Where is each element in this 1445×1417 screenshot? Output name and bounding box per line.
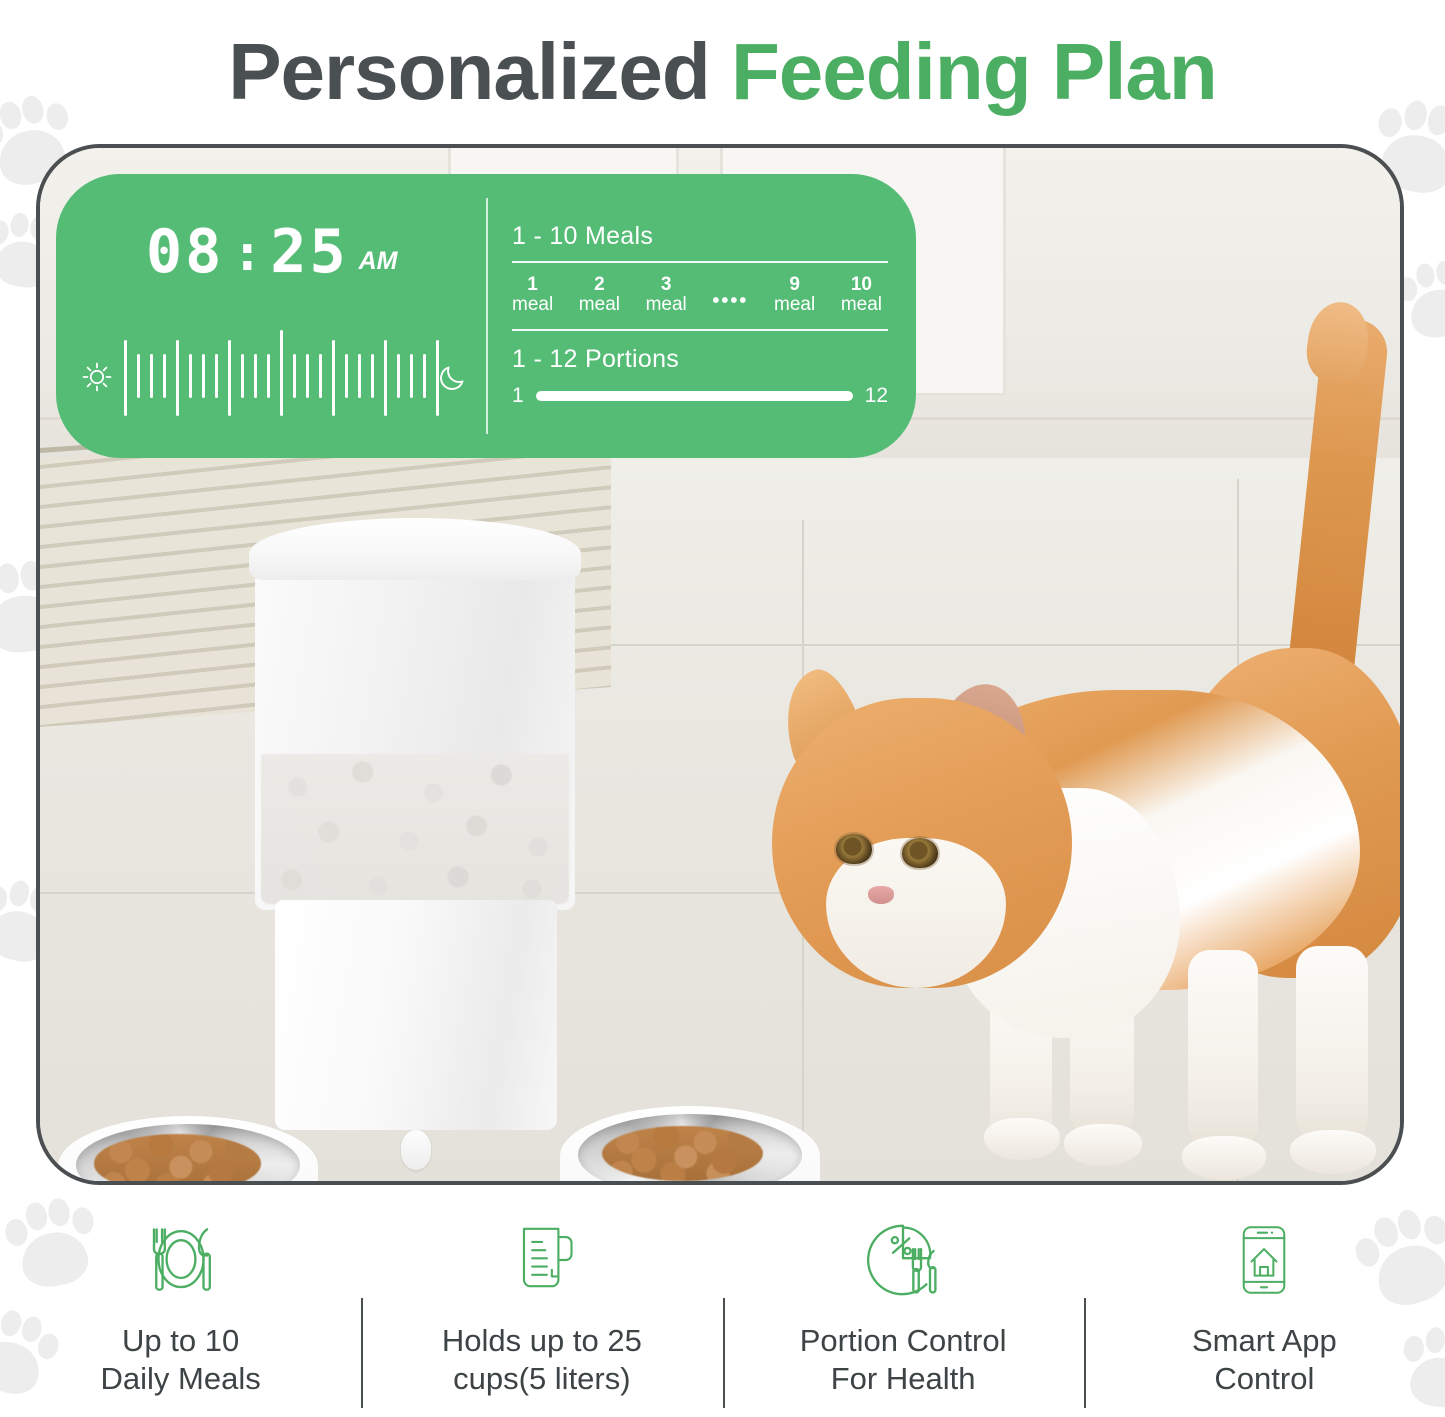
- product-infographic: Personalized Feeding Plan: [0, 0, 1445, 1417]
- bowl-right-kibble: [602, 1126, 763, 1181]
- meal-option-10-label: meal: [841, 295, 882, 315]
- clock-display: 08 : 25 AM: [146, 222, 398, 282]
- clock-minutes: 25: [270, 222, 348, 282]
- cat-eye-left: [836, 834, 872, 864]
- clock-separator: :: [232, 228, 262, 278]
- feature-daily-meals-label: Up to 10 Daily Meals: [101, 1322, 261, 1398]
- meal-option-1-label: meal: [512, 295, 553, 315]
- meal-options-row: 1 meal 2 meal 3 meal •••• 9 meal 10: [512, 271, 888, 321]
- food-bowl-right: [560, 1106, 820, 1185]
- pet-feeder-device: NEATSTIR: [235, 508, 595, 1168]
- clock-section: 08 : 25 AM: [56, 174, 486, 458]
- feature-portion-control: Portion Control For Health: [723, 1208, 1084, 1408]
- clock-meridiem: AM: [359, 247, 398, 276]
- meal-option-3-label: meal: [646, 295, 687, 315]
- meal-option-1-count: 1: [512, 275, 553, 295]
- page-title-primary: Personalized: [228, 27, 731, 116]
- cat-leg-rear-right: [1296, 946, 1368, 1144]
- feature-smart-app: Smart App Control: [1084, 1208, 1445, 1408]
- meal-option-10[interactable]: 10 meal: [841, 275, 882, 315]
- moon-icon: [436, 360, 470, 394]
- meal-option-2[interactable]: 2 meal: [579, 275, 620, 315]
- meal-option-1[interactable]: 1 meal: [512, 275, 553, 315]
- clock-hours: 08: [146, 222, 224, 282]
- page-title-accent: Feeding Plan: [731, 27, 1217, 116]
- meals-divider-bottom: [512, 329, 888, 331]
- meal-option-2-label: meal: [579, 295, 620, 315]
- page-title: Personalized Feeding Plan: [0, 26, 1445, 118]
- cat-paw-rear-left: [1182, 1136, 1266, 1180]
- sun-icon: [80, 360, 114, 394]
- feeder-hopper: [255, 550, 575, 910]
- cat-paw-front-right: [1064, 1124, 1142, 1166]
- time-ruler[interactable]: [124, 338, 426, 416]
- meal-options-ellipsis: ••••: [712, 290, 748, 315]
- feature-capacity-label: Holds up to 25 cups(5 liters): [442, 1322, 642, 1398]
- portions-min-label: 1: [512, 384, 524, 408]
- feeding-plan-card: 08 : 25 AM: [56, 174, 916, 458]
- meal-option-3[interactable]: 3 meal: [646, 275, 687, 315]
- portions-max-label: 12: [865, 384, 888, 408]
- portions-heading: 1 - 12 Portions: [512, 345, 888, 374]
- feeder-dispense-button[interactable]: [401, 1130, 431, 1170]
- meals-heading: 1 - 10 Meals: [512, 222, 888, 251]
- cat-leg-rear-left: [1188, 950, 1258, 1150]
- meal-option-9[interactable]: 9 meal: [774, 275, 815, 315]
- feature-list: Up to 10 Daily Meals Holds up to 25 cups…: [0, 1208, 1445, 1408]
- smartphone-home-icon: [1225, 1212, 1303, 1308]
- meal-option-9-count: 9: [774, 275, 815, 295]
- cat-paw-front-left: [984, 1118, 1060, 1160]
- meal-option-9-label: meal: [774, 295, 815, 315]
- plan-settings-section: 1 - 10 Meals 1 meal 2 meal 3 meal •••• 9: [486, 198, 916, 434]
- meals-divider-top: [512, 261, 888, 263]
- feature-portion-control-label: Portion Control For Health: [800, 1322, 1007, 1398]
- feeder-body: [275, 900, 557, 1130]
- feature-daily-meals: Up to 10 Daily Meals: [0, 1208, 361, 1408]
- cat-nose: [868, 886, 894, 904]
- meal-option-3-count: 3: [646, 275, 687, 295]
- day-night-slider[interactable]: [80, 334, 470, 420]
- plate-cutlery-icon: [136, 1212, 226, 1308]
- cat-paw-rear-right: [1290, 1130, 1376, 1174]
- hopper-kibble: [261, 754, 569, 904]
- portions-slider-track[interactable]: [536, 391, 853, 401]
- feature-smart-app-label: Smart App Control: [1192, 1322, 1337, 1398]
- feature-capacity: Holds up to 25 cups(5 liters): [361, 1208, 722, 1408]
- measuring-jug-icon: [501, 1212, 583, 1308]
- meal-option-2-count: 2: [579, 275, 620, 295]
- portion-plate-percent-icon: [858, 1212, 948, 1308]
- feeder-lid: [249, 518, 581, 580]
- cat-eye-right: [902, 838, 938, 868]
- portions-slider[interactable]: 1 12: [512, 384, 888, 408]
- meal-option-10-count: 10: [841, 275, 882, 295]
